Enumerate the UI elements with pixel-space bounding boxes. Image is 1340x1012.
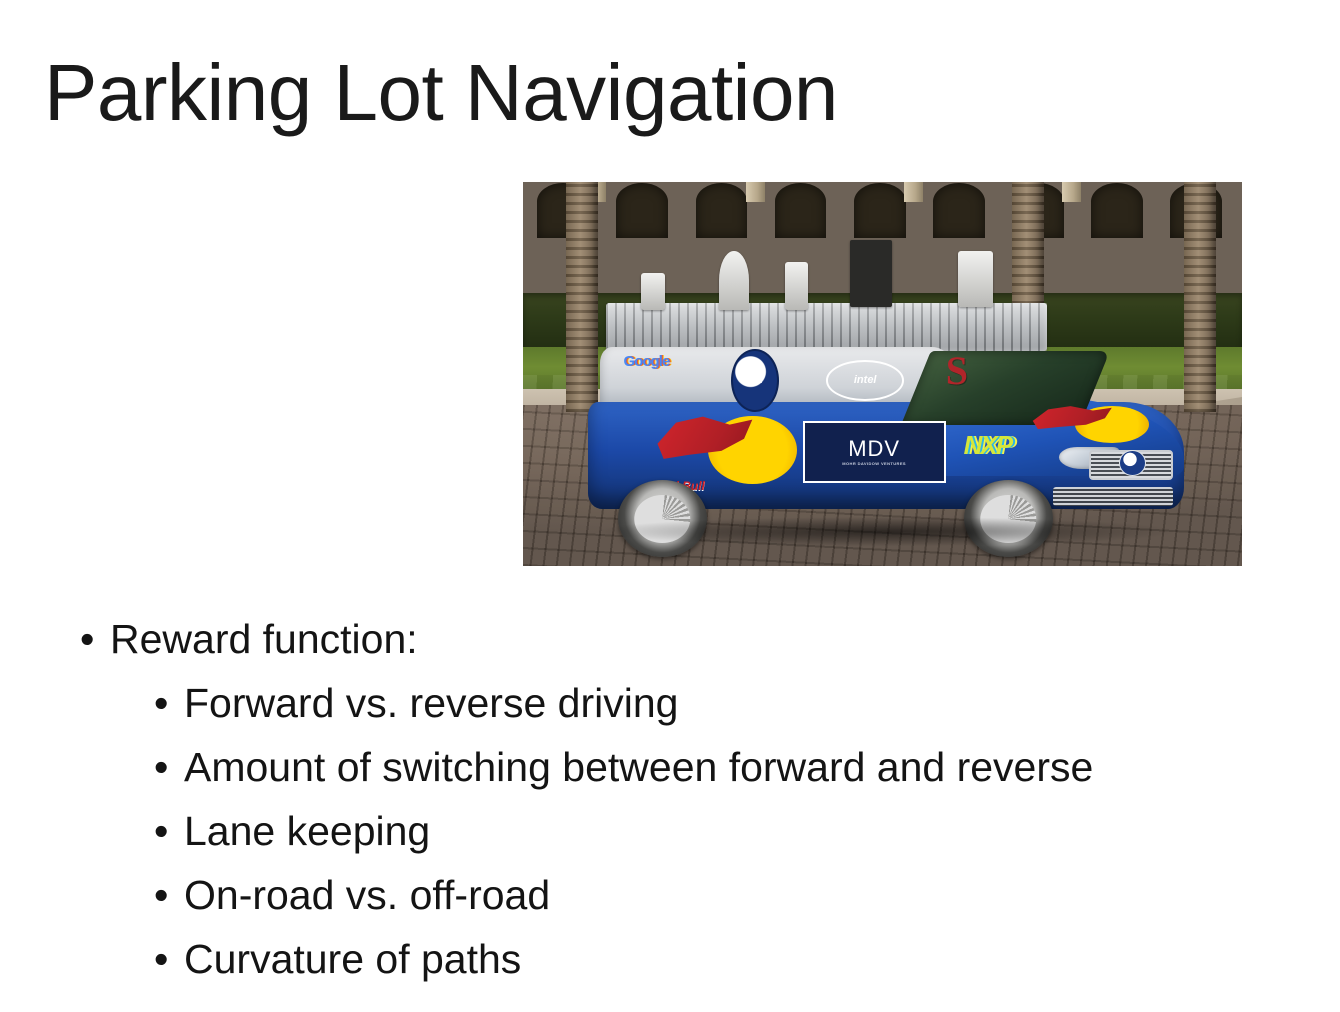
bullet-text: Lane keeping bbox=[184, 800, 430, 864]
antenna-sensor bbox=[641, 273, 665, 310]
mdv-wordmark: MDV bbox=[848, 438, 900, 460]
bullet-dot-icon: • bbox=[154, 736, 184, 800]
bullet-text: Amount of switching between forward and … bbox=[184, 736, 1093, 800]
camera-sensor bbox=[850, 240, 892, 306]
slide: Parking Lot Navigation bbox=[0, 0, 1340, 1012]
vehicle-shadow bbox=[600, 517, 1173, 546]
bullet-text: Forward vs. reverse driving bbox=[184, 672, 678, 736]
mdv-logo: MDV MOHR DAVIDOW VENTURES bbox=[803, 421, 946, 484]
bullet-item: • Forward vs. reverse driving bbox=[154, 672, 1280, 736]
bullet-text: On-road vs. off-road bbox=[184, 864, 550, 928]
sensor-roof-rack bbox=[606, 303, 1048, 351]
arch bbox=[854, 183, 906, 238]
pillar bbox=[1062, 182, 1081, 202]
lidar-sensor bbox=[958, 251, 994, 306]
pillar bbox=[746, 182, 765, 202]
arch bbox=[933, 183, 985, 238]
bullet-item: • Reward function: bbox=[80, 608, 1280, 672]
vw-logo: VW bbox=[731, 349, 779, 412]
bullet-text: Curvature of paths bbox=[184, 928, 521, 992]
bullet-dot-icon: • bbox=[154, 928, 184, 992]
page-title: Parking Lot Navigation bbox=[44, 52, 838, 134]
palm-tree-trunk bbox=[1184, 182, 1216, 412]
lower-bumper bbox=[1053, 487, 1172, 505]
redbull-hood-logo bbox=[1029, 402, 1148, 446]
mdv-tagline: MOHR DAVIDOW VENTURES bbox=[842, 462, 906, 466]
bullet-item: • Amount of switching between forward an… bbox=[154, 736, 1280, 800]
intel-logo: intel bbox=[826, 360, 904, 401]
autonomous-vehicle: Google VW intel S Red Bull MDV MOHR DAVI… bbox=[588, 347, 1185, 531]
bullet-list: • Reward function: • Forward vs. reverse… bbox=[80, 608, 1280, 992]
bullet-dot-icon: • bbox=[154, 672, 184, 736]
arch bbox=[1091, 183, 1143, 238]
google-logo: Google bbox=[624, 354, 670, 369]
arch bbox=[696, 183, 748, 238]
bullet-item: • Lane keeping bbox=[154, 800, 1280, 864]
pillar bbox=[904, 182, 923, 202]
bullet-item: • Curvature of paths bbox=[154, 928, 1280, 992]
bullet-dot-icon: • bbox=[80, 608, 110, 672]
nxp-logo: NXP bbox=[964, 432, 1011, 458]
arch bbox=[616, 183, 668, 238]
bullet-text: Reward function: bbox=[110, 608, 418, 672]
vehicle-photo: Google VW intel S Red Bull MDV MOHR DAVI… bbox=[523, 182, 1242, 566]
gps-dome-sensor bbox=[719, 251, 749, 310]
stanford-s-logo: S bbox=[946, 351, 968, 391]
bullet-item: • On-road vs. off-road bbox=[154, 864, 1280, 928]
arcade-arches bbox=[523, 182, 1242, 242]
arch bbox=[775, 183, 827, 238]
bullet-dot-icon: • bbox=[154, 800, 184, 864]
vw-badge-icon bbox=[1119, 450, 1146, 476]
redbull-logo: Red Bull bbox=[653, 410, 796, 491]
bullet-dot-icon: • bbox=[154, 864, 184, 928]
antenna-sensor bbox=[785, 262, 809, 310]
